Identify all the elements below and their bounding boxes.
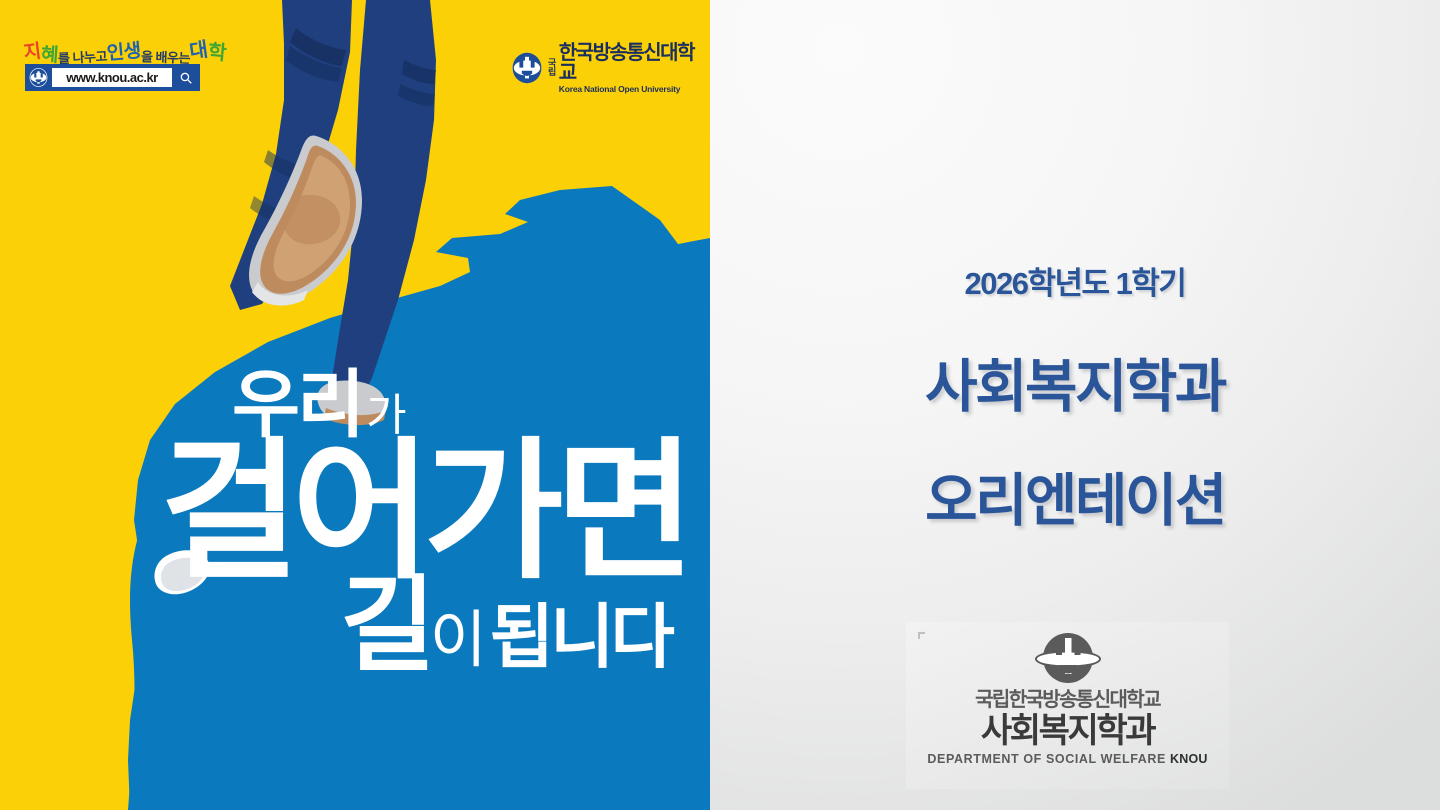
department-logo-card: 국립한국방송통신대학교 사회복지학과 DEPARTMENT OF SOCIAL … [906,622,1229,789]
dept-logo-department: 사회복지학과 [981,714,1154,748]
slogan-part: 인생 [106,42,141,64]
department-title: 사회복지학과 [925,341,1225,423]
search-icon[interactable] [176,68,196,87]
dept-logo-english-brand: KNOU [1170,752,1208,766]
headline-line3-small: 이 [430,610,484,672]
dept-logo-english-prefix: DEPARTMENT OF SOCIAL WELFARE [927,752,1166,766]
dept-logo-university: 국립한국방송통신대학교 [975,690,1160,710]
knou-url-bar[interactable]: www.knou.ac.kr [25,64,200,91]
semester-label: 2026학년도 1학기 [965,258,1186,303]
poster-slide: 지 혜 를 나누고 인생 을 배우는 대 학 www.knou.ac.kr [0,0,1440,810]
corner-mark-icon [918,632,925,639]
url-input[interactable]: www.knou.ac.kr [52,68,172,87]
slogan-part: 학 [207,42,227,63]
slogan-part: 혜 [40,45,58,65]
knou-emblem-icon [511,52,543,84]
dept-logo-english: DEPARTMENT OF SOCIAL WELFARE KNOU [927,753,1207,766]
poster-left-panel: 지 혜 를 나누고 인생 을 배우는 대 학 www.knou.ac.kr [0,0,710,810]
event-title: 오리엔테이션 [925,455,1225,537]
knou-emblem-icon [29,68,48,87]
headline-line3-big: 길 [340,574,430,678]
poster-slogan: 지 혜 를 나누고 인생 을 배우는 대 학 [24,30,224,64]
headline-line-2: 걸어가면 [0,436,710,588]
slogan-part: 을 배우는 [141,50,190,65]
logo-english-name: Korea National Open University [559,85,710,94]
logo-prefix: 국 립 [548,59,556,78]
slogan-part: 지 [23,42,42,63]
knou-header-logo: 국 립 한국방송통신대학교 Korea National Open Univer… [511,43,710,94]
logo-prefix-line2: 립 [548,68,556,77]
logo-korean-name: 한국방송통신대학교 [559,43,710,83]
slogan-part: 를 나누고 [58,50,108,66]
headline-line2-text: 걸어가면 [160,436,687,588]
knou-emblem-gray-icon [1034,632,1102,684]
poster-headline: 우리 가 걸어가면 길 이 됩니다 [0,368,710,678]
slogan-part: 대 [188,40,209,62]
title-right-panel: 2026학년도 1학기 사회복지학과 오리엔테이션 국립한국방송통신대학교 사회… [710,0,1440,810]
headline-line3-mid: 됩니다 [490,602,671,672]
